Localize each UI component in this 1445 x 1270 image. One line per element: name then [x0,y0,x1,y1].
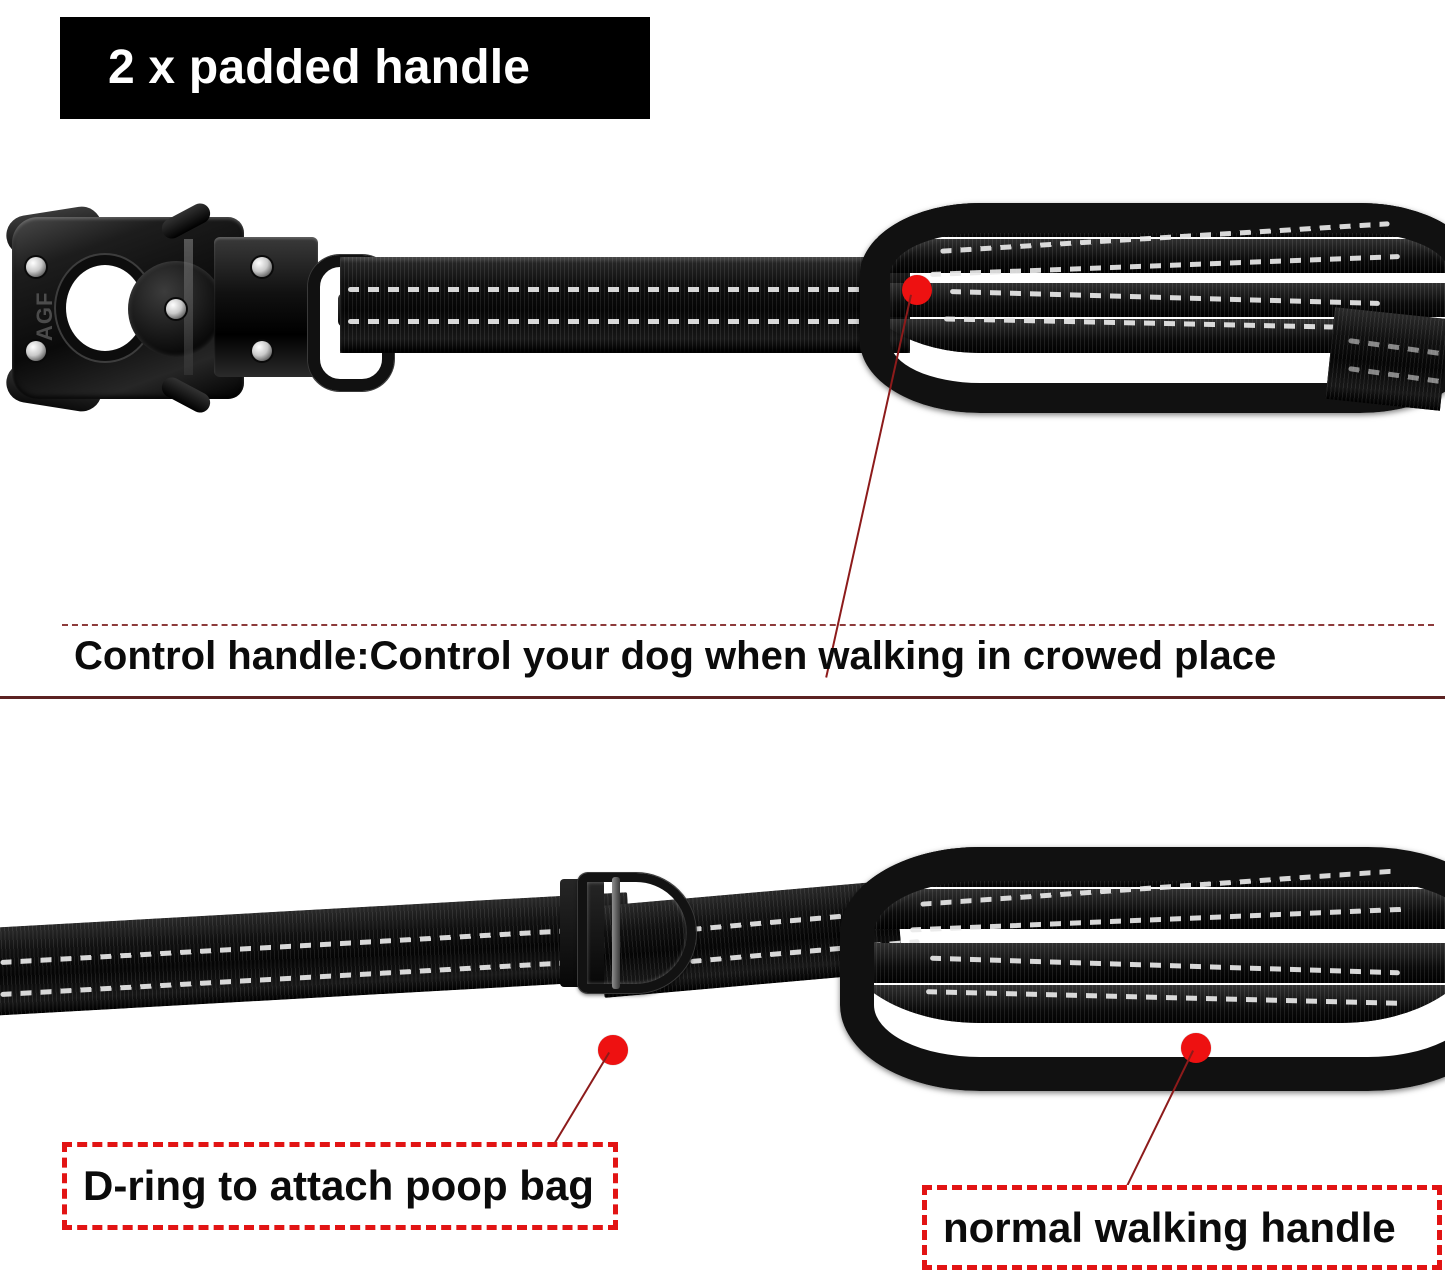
title-banner: 2 x padded handle [60,17,650,119]
lower-leash-assembly [0,855,1445,1085]
title-text: 2 x padded handle [108,44,530,92]
infographic-canvas: 2 x padded handle AGF [0,0,1445,1260]
callout-d-ring: D-ring to attach poop bag [62,1142,618,1230]
d-ring-straight-bar [612,877,620,989]
control-handle-caption-band: Control handle:Control your dog when wal… [0,624,1445,698]
clasp-rivet [26,341,46,361]
clasp-rivet [166,299,186,319]
reflective-stitch-row [348,287,914,292]
caption-bottom-rule [0,696,1445,699]
caption-dashed-divider [62,624,1434,626]
callout-walking-handle-text: normal walking handle [943,1207,1396,1249]
callout-d-ring-text: D-ring to attach poop bag [83,1165,594,1207]
clasp-rivet [252,341,272,361]
d-ring-icon [578,873,696,993]
control-handle-caption-text: Control handle:Control your dog when wal… [74,634,1434,679]
clasp-engraving: AGF [32,281,54,341]
upper-leash-assembly: AGF [0,195,1445,435]
control-handle-marker-dot [902,275,932,305]
snap-hook-clasp-icon: AGF [8,209,308,409]
d-ring-leader-line [553,1052,610,1146]
clasp-prong-bottom [158,374,213,416]
upper-strap-webbing [340,257,910,353]
clasp-rivet [252,257,272,277]
clasp-prong-top [158,200,213,242]
d-ring-body [578,873,696,993]
clasp-rivet [26,257,46,277]
callout-walking-handle: normal walking handle [922,1185,1442,1270]
reflective-stitch-row [348,319,914,324]
upper-strap-tail [1326,307,1445,411]
walking-handle-marker-dot [1181,1033,1211,1063]
